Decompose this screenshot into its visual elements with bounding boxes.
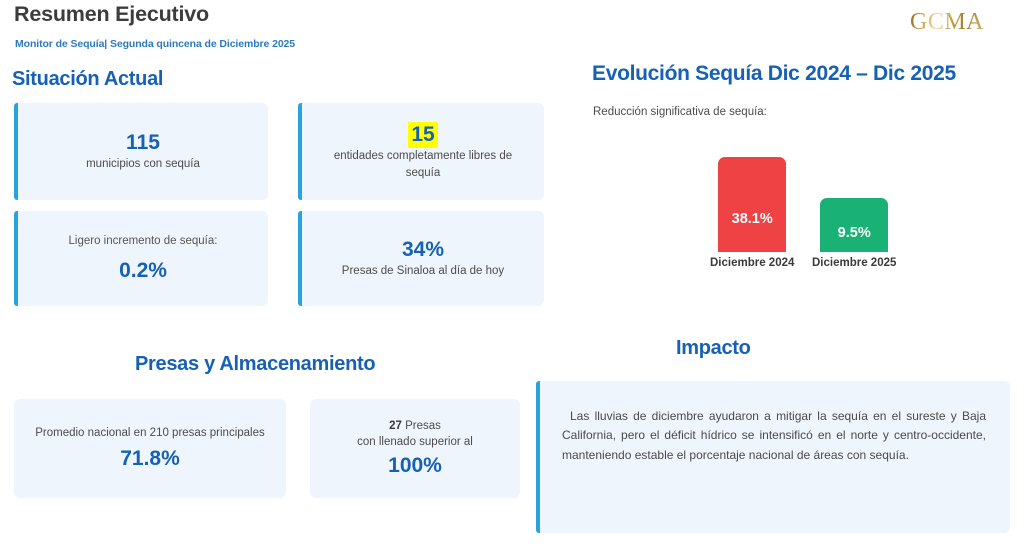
page-title: Resumen Ejecutivo: [14, 2, 209, 27]
stat-card-presas-llenado: 27 Presas con llenado superior al 100%: [310, 399, 520, 498]
stat-label-presas-count: 27 Presas: [389, 418, 441, 435]
stat-label-entidades-libres: entidades completamente libres de sequía: [316, 148, 530, 181]
stat-label-presas-suffix: Presas: [402, 420, 441, 432]
bar-diciembre-2025: 9.5%: [820, 198, 888, 252]
stat-card-entidades-libres: 15 entidades completamente libres de seq…: [298, 103, 544, 200]
stat-card-presas-sinaloa: 34% Presas de Sinaloa al día de hoy: [298, 211, 544, 306]
bar-value-diciembre-2024: 38.1%: [732, 211, 773, 227]
stat-value-incremento-sequia: 0.2%: [119, 258, 167, 284]
stat-value-presas-sinaloa: 34%: [402, 237, 444, 263]
stat-label-promedio-nacional: Promedio nacional en 210 presas principa…: [35, 425, 265, 442]
stat-value-presas-llenado: 100%: [388, 453, 442, 479]
stat-label-incremento-sequia: Ligero incremento de sequía:: [69, 233, 218, 250]
section-heading-situacion-actual: Situación Actual: [12, 68, 163, 91]
bar-category-diciembre-2025: Diciembre 2025: [812, 257, 896, 269]
drought-evolution-bar-chart: 38.1% Diciembre 2024 9.5% Diciembre 2025: [600, 130, 1000, 295]
page-subtitle: Monitor de Sequía| Segunda quincena de D…: [15, 38, 295, 50]
section-heading-impacto: Impacto: [676, 337, 751, 360]
executive-summary-page: Resumen Ejecutivo Monitor de Sequía| Seg…: [0, 0, 1024, 552]
stat-label-presas-sinaloa: Presas de Sinaloa al día de hoy: [342, 263, 504, 280]
bar-group-diciembre-2024: 38.1% Diciembre 2024: [710, 157, 794, 269]
stat-label-municipios: municipios con sequía: [86, 156, 200, 173]
gcma-logo: GCMA: [910, 9, 984, 36]
stat-value-presas-count: 27: [389, 420, 402, 432]
stat-value-promedio-nacional: 71.8%: [120, 446, 180, 472]
stat-value-municipios: 115: [126, 130, 160, 156]
bar-category-diciembre-2024: Diciembre 2024: [710, 257, 794, 269]
stat-value-entidades-libres: 15: [408, 122, 437, 148]
bar-diciembre-2024: 38.1%: [718, 157, 786, 252]
stat-card-incremento-sequia: Ligero incremento de sequía: 0.2%: [14, 211, 268, 306]
stat-card-municipios: 115 municipios con sequía: [14, 103, 268, 200]
stat-label-presas-llenado: con llenado superior al: [357, 434, 473, 451]
section-heading-evolucion-sequia: Evolución Sequía Dic 2024 – Dic 2025: [592, 62, 956, 86]
stat-card-promedio-nacional: Promedio nacional en 210 presas principa…: [14, 399, 286, 498]
bar-value-diciembre-2025: 9.5%: [838, 225, 871, 241]
impact-body-text: Las lluvias de diciembre ayudaron a miti…: [562, 407, 986, 465]
section-heading-presas-almacenamiento: Presas y Almacenamiento: [135, 353, 375, 376]
chart-note: Reducción significativa de sequía:: [593, 106, 767, 118]
impact-card: Las lluvias de diciembre ayudaron a miti…: [536, 381, 1010, 533]
bar-group-diciembre-2025: 9.5% Diciembre 2025: [812, 198, 896, 269]
